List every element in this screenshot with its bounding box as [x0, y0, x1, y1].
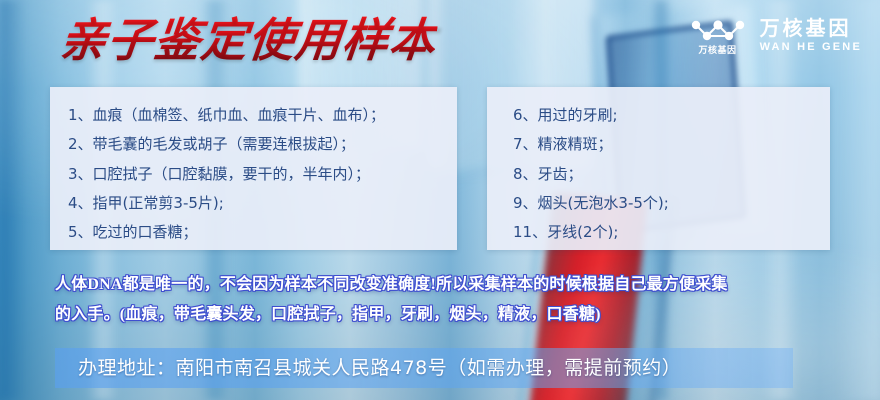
list-item: 5、吃过的口香糖；	[68, 218, 457, 247]
note-line-1: 人体DNA都是唯一的，不会因为样本不同改变准确度!所以采集样本的时候根据自己最方…	[55, 276, 728, 293]
logo-mark: 万核基因	[690, 18, 746, 55]
sample-list-right: 6、用过的牙刷; 7、精液精斑； 8、牙齿； 9、烟头(无泡水3-5个); 11…	[487, 87, 830, 247]
poster-root: 亲子鉴定使用样本	[0, 0, 880, 400]
brand-wordmark: 万核基因 WAN HE GENE	[760, 19, 862, 54]
sample-list-left: 1、血痕（血棉签、纸巾血、血痕干片、血布）； 2、带毛囊的毛发或胡子（需要连根拔…	[50, 87, 457, 247]
list-item: 9、烟头(无泡水3-5个);	[513, 189, 830, 218]
dna-molecule-icon	[690, 18, 746, 44]
sample-list-panel-left: 1、血痕（血棉签、纸巾血、血痕干片、血布）； 2、带毛囊的毛发或胡子（需要连根拔…	[50, 87, 457, 250]
logo-mark-caption: 万核基因	[699, 46, 737, 55]
list-item: 2、带毛囊的毛发或胡子（需要连根拔起）；	[68, 130, 457, 159]
bg-stripe	[0, 0, 26, 400]
list-item: 8、牙齿；	[513, 160, 830, 189]
page-title: 亲子鉴定使用样本	[57, 16, 438, 67]
list-item: 6、用过的牙刷;	[513, 101, 830, 130]
note-line-2: 的入手。(血痕，带毛囊头发，口腔拭子，指甲，牙刷，烟头，精液，口香糖)	[55, 300, 830, 330]
brand-logo: 万核基因 万核基因 WAN HE GENE	[690, 18, 862, 55]
bg-stripe	[836, 0, 880, 400]
note-paragraph: 人体DNA都是唯一的，不会因为样本不同改变准确度!所以采集样本的时候根据自己最方…	[55, 270, 830, 329]
brand-name-cn: 万核基因	[760, 19, 862, 40]
address-text: 办理地址：南阳市南召县城关人民路478号（如需办理，需提前预约）	[78, 352, 681, 384]
brand-name-en: WAN HE GENE	[760, 42, 862, 54]
list-item: 4、指甲(正常剪3-5片);	[68, 189, 457, 218]
list-item: 3、口腔拭子（口腔黏膜，要干的，半年内）；	[68, 160, 457, 189]
list-item: 7、精液精斑；	[513, 130, 830, 159]
list-item: 11、牙线(2个);	[513, 218, 830, 247]
sample-list-panel-right: 6、用过的牙刷; 7、精液精斑； 8、牙齿； 9、烟头(无泡水3-5个); 11…	[487, 87, 830, 250]
list-item: 1、血痕（血棉签、纸巾血、血痕干片、血布）；	[68, 101, 457, 130]
